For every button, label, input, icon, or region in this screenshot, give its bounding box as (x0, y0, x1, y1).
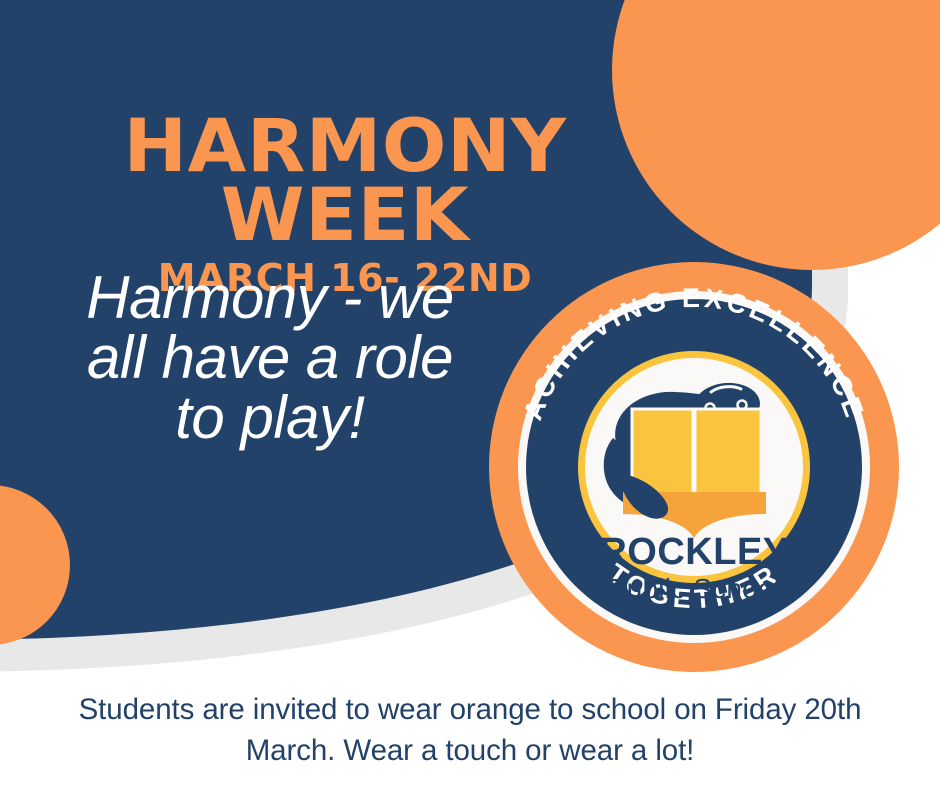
tagline-line-2: all have a role (10, 328, 530, 388)
page-title: HARMONY WEEK (0, 112, 704, 251)
tagline: Harmony - we all have a role to play! (10, 268, 530, 448)
caption: Students are invited to wear orange to s… (0, 690, 940, 771)
caption-line-2: March. Wear a touch or wear a lot! (0, 731, 940, 772)
tagline-line-3: to play! (10, 388, 530, 448)
harmony-week-poster: HARMONY WEEK MARCH 16- 22ND Harmony - we… (0, 0, 940, 788)
tagline-line-1: Harmony - we (10, 268, 530, 328)
logo-school-type: Public School (608, 573, 780, 604)
caption-line-1: Students are invited to wear orange to s… (0, 690, 940, 731)
logo-school-name: ROCKLEY (599, 531, 788, 573)
school-logo-badge: ACHIEVING EXCELLENCE TOGETHER (489, 262, 899, 672)
